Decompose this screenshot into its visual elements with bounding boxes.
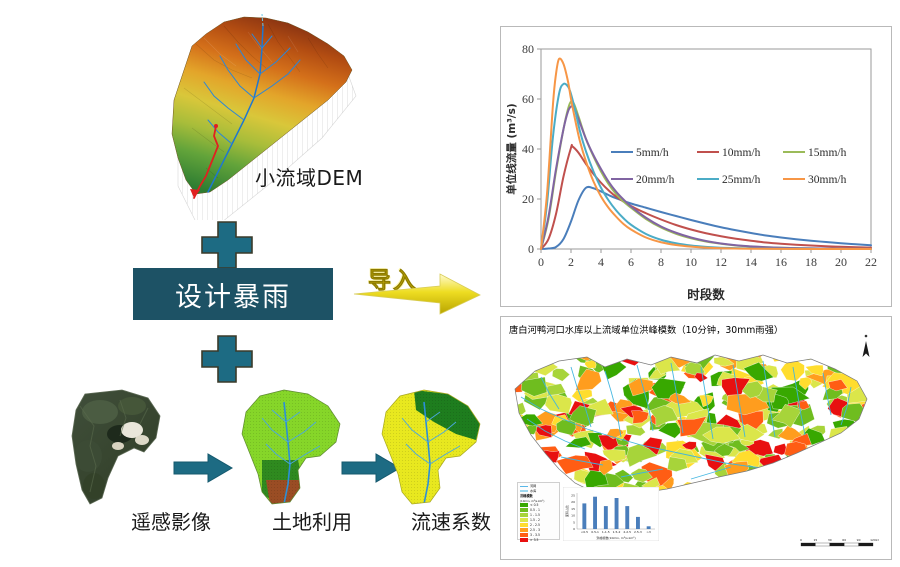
map-cell [697,478,727,493]
map-cell [502,353,533,375]
legend-class-label: 2.5 - 3 [530,528,540,532]
inset-y-tick: 20 [571,500,575,504]
legend-class-label: 3 - 3.5 [530,533,540,537]
legend-class-swatch [520,538,528,542]
scalebar-tick: 90 [857,538,861,542]
map-legend-class: 3 - 3.5 [520,533,557,538]
map-cell [780,485,800,500]
inset-x-tick: 2-2.5 [623,530,631,534]
reservoir-feature [793,453,827,479]
legend-label-25mm/h: 25mm/h [722,174,761,186]
svg-text:8: 8 [658,255,664,269]
flow-arrow-1-icon [172,452,234,484]
scalebar-block [844,543,858,546]
plus-icon-bottom [198,332,256,386]
inset-bar-chart: <0.50.5-11-1.51.5-22-2.52.5-3>3 05101520… [563,487,659,541]
map-cell [512,465,545,484]
import-arrow-icon [352,262,482,324]
map-cell [714,357,734,366]
map-cell [860,416,879,427]
map-cell [827,438,848,455]
svg-text:4: 4 [598,255,604,269]
map-cell [505,402,526,416]
map-cell [859,354,873,363]
chart-svg: 020406080 0246810121416182022 5mm/h10mm/… [501,27,893,308]
legend-item-label: 水库 [530,489,536,493]
map-cell [828,445,860,464]
svg-text:60: 60 [522,92,534,106]
legend-class-swatch [520,503,528,507]
map-cell [501,424,529,441]
map-cell [821,483,855,509]
inset-x-title: 洪峰模数(10min, m³/s·km²) [596,535,635,540]
map-cell [823,441,844,456]
map-legend-line-items: 河网水库 [520,484,557,494]
map-cell [812,455,830,467]
map-cell [775,460,792,472]
scalebar-block [859,543,873,546]
svg-text:0: 0 [538,255,544,269]
legend-swatch [520,490,528,492]
scalebar-tick: 15 [813,538,817,542]
map-cell [687,347,702,358]
inset-bar [593,497,597,529]
map-cell [545,394,572,413]
map-cell [852,422,866,434]
map-cell [838,444,856,458]
map-cell [701,485,729,501]
map-cell [653,345,672,358]
map-cell [869,377,884,387]
scalebar-block [801,543,815,546]
scalebar-tick: 60 [842,538,846,542]
map-cell [517,358,539,371]
legend-class-swatch [520,518,528,522]
map-legend-class: 1.5 - 2 [520,518,557,523]
legend-label-5mm/h: 5mm/h [636,147,669,159]
map-cell [772,348,793,362]
map-cell [861,423,892,447]
map-cell [848,345,869,358]
map-cell [512,443,531,457]
inset-bar [636,517,640,529]
map-cell [513,351,533,365]
plus-icon-top [198,218,256,272]
inset-y-tick: 10 [571,514,575,518]
map-cell [797,485,815,501]
land-use-label: 土地利用 [272,506,352,535]
design-storm-label: 设计暴雨 [175,275,291,314]
legend-class-swatch [520,508,528,512]
map-cell [621,349,641,366]
map-cell [661,490,676,501]
map-cell [556,420,576,436]
legend-class-swatch [520,533,528,537]
inset-y-tick: 5 [573,520,575,524]
land-use-image [228,384,348,508]
svg-text:6: 6 [628,255,634,269]
map-cell [682,482,699,491]
map-cell [552,369,570,382]
inset-bar [582,503,586,529]
map-cell [825,349,849,361]
map-cell [519,448,546,462]
map-cell [503,458,541,483]
scalebar-tick: 0 [800,538,802,542]
scalebar-blocks [801,543,873,546]
map-cell [807,495,821,505]
inset-y-tick: 0 [573,527,575,531]
map-cell [503,426,531,445]
legend-class-label: 0.5 - 1 [530,508,540,512]
map-legend-item: 河网 [520,484,557,489]
legend-class-swatch [520,513,528,517]
flood-peak-map-panel: 唐白河鸭河口水库以上流域单位洪峰模数（10分钟，30mm雨强） [500,316,892,560]
inset-y-title: 面积占比 [564,505,569,517]
map-cell [850,470,866,483]
map-legend-class-items: < 0.50.5 - 11 - 1.51.5 - 22 - 2.52.5 - 3… [520,503,557,542]
map-cell [835,447,866,460]
inset-x-labels: <0.50.5-11-1.51.5-22-2.52.5-3>3 [581,530,651,534]
map-cell [538,348,564,360]
remote-sensing-label: 遥感影像 [131,506,211,535]
map-legend-class: 2.5 - 3 [520,528,557,533]
legend-swatch [520,486,528,488]
map-cell [510,362,523,372]
legend-label-20mm/h: 20mm/h [636,174,675,186]
map-cell [790,453,820,474]
series-5mm/h [541,187,871,249]
map-legend-class: > 3.5 [520,538,557,543]
map-cell [826,480,842,491]
svg-text:40: 40 [522,142,534,156]
inset-bar [647,526,651,529]
svg-text:20: 20 [522,192,534,206]
map-legend: 河网水库 洪峰模数 (10min, m³/s·km²) < 0.50.5 - 1… [517,482,560,540]
map-cell [834,458,866,478]
scalebar-block [815,543,829,546]
scalebar-tick: 30 [828,538,832,542]
map-cell [852,465,875,478]
map-cell [691,481,726,503]
legend-class-label: > 3.5 [530,538,539,542]
legend-label-10mm/h: 10mm/h [722,147,761,159]
map-legend-class: 0.5 - 1 [520,508,557,513]
map-cell [524,362,538,370]
map-cell [532,344,559,361]
legend-label-30mm/h: 30mm/h [808,174,847,186]
velocity-coefficient-label: 流速系数 [411,506,491,535]
remote-sensing-image [60,386,190,508]
map-cell [741,484,754,497]
map-cell [838,494,851,502]
map-cell [832,494,854,506]
legend-class-swatch [520,523,528,527]
series-10mm/h [541,145,871,249]
chart-legend: 5mm/h10mm/h15mm/h20mm/h25mm/h30mm/h [611,147,847,186]
map-cell [869,369,886,381]
map-cell [781,346,803,360]
svg-text:14: 14 [745,255,757,269]
map-legend-class: 2 - 2.5 [520,523,557,528]
map-cell [705,482,735,504]
map-cell [508,340,539,362]
inset-x-tick: 1.5-2 [613,530,621,534]
y-axis-ticks: 020406080 [522,42,541,256]
map-cell [538,351,555,362]
workflow-panel: 小流域DEM 设计暴雨 导入 [0,0,495,567]
map-cell [521,469,535,479]
map-cell [797,489,815,502]
map-cell [529,456,548,470]
scalebar-labels: 015306090120km [800,538,879,542]
x-axis-ticks: 0246810121416182022 [538,249,877,269]
map-legend-class: < 0.5 [520,503,557,508]
map-cell [502,454,532,475]
y-axis-title: 单位线流量 (m³/s) [505,103,518,194]
legend-class-label: < 0.5 [530,503,539,507]
map-cell [784,442,807,462]
map-title: 唐白河鸭河口水库以上流域单位洪峰模数（10分钟，30mm雨强） [509,322,783,336]
legend-class-label: 1 - 1.5 [530,513,540,517]
legend-class-label: 2 - 2.5 [530,523,540,527]
inset-bar [615,498,619,529]
svg-text:80: 80 [522,42,534,56]
map-cell [842,341,868,357]
legend-class-swatch [520,528,528,532]
map-legend-class: 1 - 1.5 [520,513,557,518]
inset-bar [604,506,608,529]
inset-bar [625,506,629,529]
map-cell [782,466,803,489]
map-cell [773,488,810,507]
svg-text:10: 10 [685,255,697,269]
map-cell [808,476,840,493]
x-axis-title: 时段数 [687,287,725,302]
map-cell [836,466,862,483]
inset-x-tick: <0.5 [581,530,588,534]
map-legend-item: 水库 [520,489,557,494]
inset-y-tick: 25 [571,493,575,497]
map-cell [738,479,751,490]
inset-x-tick: 1-1.5 [602,530,610,534]
map-cell [828,426,848,444]
svg-text:18: 18 [805,255,817,269]
inset-x-tick: 2.5-3 [634,530,642,534]
map-scalebar: 015306090120km [797,537,879,551]
svg-text:20: 20 [835,255,847,269]
legend-item-label: 河网 [530,484,536,488]
legend-class-label: 1.5 - 2 [530,518,540,522]
inset-y-tick: 15 [571,507,575,511]
svg-text:0: 0 [528,242,534,256]
design-storm-box: 设计暴雨 [133,268,333,320]
slide-root: 小流域DEM 设计暴雨 导入 [0,0,900,567]
legend-label-15mm/h: 15mm/h [808,147,847,159]
unit-hydrograph-chart: 020406080 0246810121416182022 5mm/h10mm/… [500,26,892,307]
svg-text:16: 16 [775,255,787,269]
inset-x-tick: >3 [646,530,651,534]
svg-text:22: 22 [865,255,877,269]
map-cell [816,465,835,477]
scalebar-unit: km [876,538,879,542]
dem-label: 小流域DEM [255,162,363,191]
svg-text:2: 2 [568,255,574,269]
map-cell [734,472,764,491]
velocity-coefficient-image [368,384,488,508]
svg-text:12: 12 [715,255,727,269]
map-cell [600,356,627,380]
scalebar-block [830,543,844,546]
inset-x-tick: 0.5-1 [591,530,599,534]
